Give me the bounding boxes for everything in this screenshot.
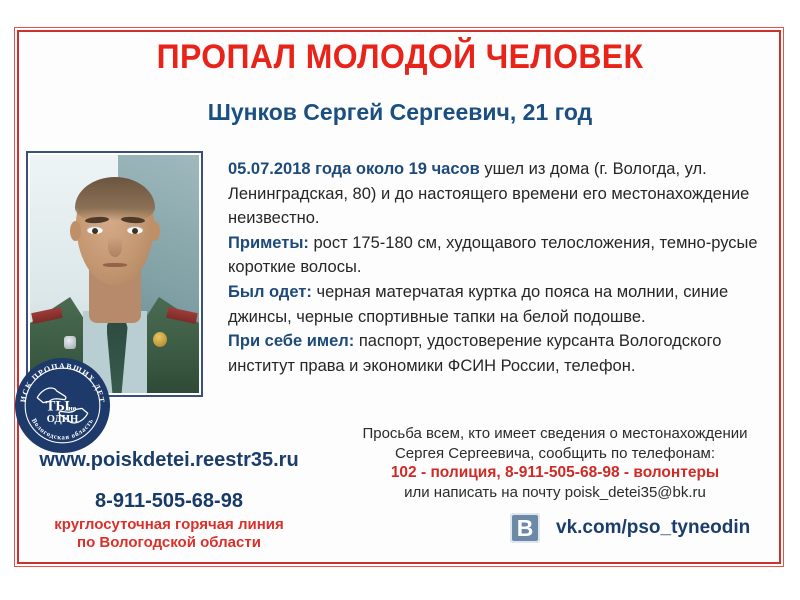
description-paragraph-3: Был одет: черная матерчатая куртка до по… [228, 280, 773, 329]
hotline-description-line-1: круглосуточная горячая линия [14, 516, 324, 534]
subject-name: Шунков Сергей Сергеевич, 21 год [0, 99, 800, 126]
emblem-svg: ПОИСК ПРОПАВШИХ ДЕТЕЙ Вологодская област… [14, 357, 111, 454]
appeal-phone-numbers[interactable]: 102 - полиция, 8-911-505-68-98 - волонте… [330, 463, 780, 483]
description-label-3: Был одет: [228, 283, 312, 301]
uniform-insignia-right [153, 332, 167, 347]
emblem-center-ne: не [68, 403, 76, 412]
appeal-line-2: Сергея Сергеевича, сообщить по телефонам… [330, 444, 780, 464]
page-title: ПРОПАЛ МОЛОДОЙ ЧЕЛОВЕК [24, 38, 776, 77]
emblem-center-odin: ОДИН [47, 413, 79, 425]
appeal-email-line[interactable]: или написать на почту poisk_detei35@bk.r… [330, 483, 780, 503]
emblem-center-ty: ТЫ [46, 398, 71, 414]
description-block: 05.07.2018 года около 19 часов ушел из д… [228, 157, 773, 378]
portrait-ear-right [149, 221, 160, 241]
missing-person-poster: ПРОПАЛ МОЛОДОЙ ЧЕЛОВЕК Шунков Сергей Сер… [0, 0, 800, 600]
portrait-mouth [103, 263, 127, 267]
portrait-ear-left [70, 221, 81, 241]
description-paragraph-1: 05.07.2018 года около 19 часов ушел из д… [228, 157, 773, 231]
portrait-nose [108, 237, 122, 257]
vk-icon[interactable]: В [510, 513, 540, 543]
appeal-block: Просьба всем, кто имеет сведения о место… [330, 424, 780, 502]
portrait-pupil-right [132, 228, 138, 234]
hotline-description: круглосуточная горячая линия по Вологодс… [14, 516, 324, 552]
website-url-link[interactable]: www.poiskdetei.reestr35.ru [14, 449, 324, 472]
description-label-2: Приметы: [228, 234, 309, 252]
description-label-4: При себе имел: [228, 332, 354, 350]
description-paragraph-4: При себе имел: паспорт, удостоверение ку… [228, 329, 773, 378]
organization-emblem-logo: ПОИСК ПРОПАВШИХ ДЕТЕЙ Вологодская област… [14, 357, 111, 454]
social-link-row[interactable]: В vk.com/pso_tyneodin [510, 513, 750, 543]
description-label-1: 05.07.2018 года около 19 часов [228, 160, 480, 178]
uniform-insignia-left [64, 336, 76, 349]
vk-profile-link[interactable]: vk.com/pso_tyneodin [556, 517, 750, 539]
hotline-phone-number[interactable]: 8-911-505-68-98 [14, 490, 324, 513]
appeal-line-1: Просьба всем, кто имеет сведения о место… [330, 424, 780, 444]
portrait-pupil-left [92, 228, 98, 234]
hotline-description-line-2: по Вологодской области [14, 534, 324, 552]
description-paragraph-2: Приметы: рост 175-180 см, худощавого тел… [228, 231, 773, 280]
